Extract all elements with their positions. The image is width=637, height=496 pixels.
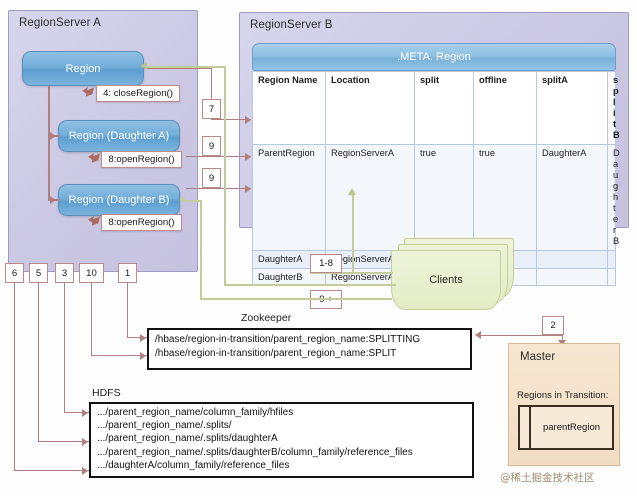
hdfs-label-text: HDFS xyxy=(92,387,121,399)
region-green-bottom xyxy=(224,284,396,286)
clients-9plus-hline-top xyxy=(185,200,202,202)
step-chip-9b-label: 9 xyxy=(209,173,214,184)
chip9b-to-row xyxy=(186,188,251,189)
chip2-zookeeper-arrow xyxy=(475,331,481,339)
region-daughter-a-box[interactable]: Region (Daughter A) xyxy=(58,120,180,152)
clients-9plus-endpoint xyxy=(180,197,185,202)
callout-open-region-a-label: 8:openRegion() xyxy=(108,154,174,165)
chip10-riser xyxy=(91,272,92,355)
step-chip-2-label: 2 xyxy=(550,320,555,331)
region-green-top xyxy=(145,66,225,68)
chip1-arrow xyxy=(140,334,146,342)
fork-to-daughter-b-arrow xyxy=(50,196,56,204)
zookeeper-line-2: /hbase/region-in-transition/parent_regio… xyxy=(149,349,470,359)
region-daughter-b-label: Region (Daughter B) xyxy=(69,194,170,206)
chip6-arrow xyxy=(82,467,88,475)
step-chip-10: 10 xyxy=(79,263,104,283)
clients-1-8-vline xyxy=(352,195,354,273)
meta-region-header: .META. Region xyxy=(252,43,616,71)
table-row[interactable]: ParentRegion RegionServerA true true Dau… xyxy=(253,144,616,250)
hdfs-line-3: .../parent_region_name/.splits/daughterA xyxy=(91,434,472,444)
chip6-riser xyxy=(14,272,15,470)
parent-fork-vertical xyxy=(48,86,50,201)
region-green-riser xyxy=(224,66,226,284)
cell-split: true xyxy=(415,144,474,250)
table-header-row: Region Name Location split offline split… xyxy=(253,72,616,145)
col-location: Location xyxy=(326,72,415,145)
watermark-text: @稀土掘金技术社区 xyxy=(500,472,595,484)
regions-in-transition-table: parentRegion xyxy=(518,405,614,450)
step-chip-6: 6 xyxy=(5,263,24,283)
chip3-riser xyxy=(64,272,65,412)
hdfs-label: HDFS xyxy=(92,387,121,399)
step-chip-7-label: 7 xyxy=(209,104,214,115)
region-server-b-title: RegionServer B xyxy=(250,19,333,31)
zookeeper-box: /hbase/region-in-transition/parent_regio… xyxy=(147,328,472,370)
step-chip-10-label: 10 xyxy=(86,268,97,279)
step-chip-5-label: 5 xyxy=(36,268,41,279)
step-chip-1-label: 1 xyxy=(125,268,130,279)
step-chip-1-8: 1-8 xyxy=(310,254,342,273)
chip9a-arrow xyxy=(245,153,251,161)
hdfs-box: .../parent_region_name/column_family/hfi… xyxy=(89,402,474,478)
cell-splitb xyxy=(608,250,616,268)
cell-location: RegionServerA xyxy=(326,144,415,250)
zookeeper-label: Zookeeper xyxy=(241,312,291,324)
chip3-arrow xyxy=(82,409,88,417)
cell-region-name: ParentRegion xyxy=(253,144,326,250)
col-region-name: Region Name xyxy=(253,72,326,145)
clients-sheet-front[interactable]: Clients xyxy=(391,250,501,310)
callout-close-region-label: 4: closeRegion() xyxy=(103,88,173,99)
region-daughter-a-label: Region (Daughter A) xyxy=(69,130,169,142)
step-chip-9b: 9 xyxy=(202,168,221,188)
step-chip-6-label: 6 xyxy=(12,268,17,279)
diagram-canvas: RegionServer A Region Region (Daughter A… xyxy=(0,0,637,496)
cell-splita xyxy=(537,268,608,286)
chip5-arrow xyxy=(82,438,88,446)
watermark: @稀土掘金技术社区 xyxy=(500,470,595,485)
region-server-a-title: RegionServer A xyxy=(19,17,101,29)
col-splita: splitA xyxy=(537,72,608,145)
cell-splita xyxy=(537,250,608,268)
chip5-riser xyxy=(38,272,39,441)
step-chip-9a-label: 9 xyxy=(209,141,214,152)
clients-9plus-vline xyxy=(200,200,202,299)
step-chip-1-8-label: 1-8 xyxy=(319,258,333,269)
col-split: split xyxy=(415,72,474,145)
cell-offline: true xyxy=(474,144,537,250)
step-chip-9a: 9 xyxy=(202,136,221,156)
clients-1-8-arrow xyxy=(348,188,356,195)
col-splitb: splitB xyxy=(608,72,616,145)
rit-entry-label: parentRegion xyxy=(543,422,600,433)
step-chip-2: 2 xyxy=(542,316,564,335)
hdfs-line-4: .../parent_region_name/.splits/daughterB… xyxy=(91,448,472,458)
chip10-arrow xyxy=(140,352,146,360)
step-chip-1: 1 xyxy=(118,263,137,283)
rit-entry[interactable]: parentRegion xyxy=(531,407,612,448)
hdfs-line-2: .../parent_region_name/.splits/ xyxy=(91,421,472,431)
callout-open-region-a: 8:openRegion() xyxy=(101,151,182,168)
fork-to-daughter-a-arrow xyxy=(50,132,56,140)
step-chip-7: 7 xyxy=(202,99,221,119)
chip9a-to-row xyxy=(186,156,251,157)
cell-splitb: DaughterB xyxy=(608,144,616,250)
step-chip-3-label: 3 xyxy=(62,268,67,279)
chip9b-arrow xyxy=(245,185,251,193)
zookeeper-label-text: Zookeeper xyxy=(241,312,291,324)
region-daughter-b-box[interactable]: Region (Daughter B) xyxy=(58,184,180,216)
chip2-to-zookeeper xyxy=(481,335,563,336)
clients-9plus-hline-low xyxy=(200,298,392,300)
zookeeper-line-1: /hbase/region-in-transition/parent_regio… xyxy=(149,335,470,345)
step-chip-5: 5 xyxy=(29,263,48,283)
cell-splita: DaughterA xyxy=(537,144,608,250)
callout-open-region-b: 8:openRegion() xyxy=(101,214,182,231)
region-parent-label: Region xyxy=(66,63,101,75)
callout-open-region-b-label: 8:openRegion() xyxy=(108,217,174,228)
meta-region-label: .META. Region xyxy=(397,51,471,63)
callout-close-region: 4: closeRegion() xyxy=(96,85,180,102)
master-panel: Master Regions in Transition: parentRegi… xyxy=(508,343,620,466)
col-offline: offline xyxy=(474,72,537,145)
rit-index-column xyxy=(520,407,531,448)
master-subtitle: Regions in Transition: xyxy=(517,390,608,401)
step-chip-3: 3 xyxy=(55,263,74,283)
hdfs-line-5: .../daughterA/column_family/reference_fi… xyxy=(91,461,472,471)
clients-label: Clients xyxy=(429,274,463,286)
region-green-arrow xyxy=(140,62,147,70)
cell-splitb xyxy=(608,268,616,286)
chip7-arrow xyxy=(245,116,251,124)
region-parent-box[interactable]: Region xyxy=(22,51,144,86)
chip10-to-zk xyxy=(91,355,147,356)
meta-region-table-wrap: Region Name Location split offline split… xyxy=(252,71,616,187)
chip6-to-hdfs xyxy=(14,470,89,471)
master-title: Master xyxy=(520,351,555,363)
chip7-top-stub xyxy=(144,68,212,69)
hdfs-line-1: .../parent_region_name/column_family/hfi… xyxy=(91,408,472,418)
